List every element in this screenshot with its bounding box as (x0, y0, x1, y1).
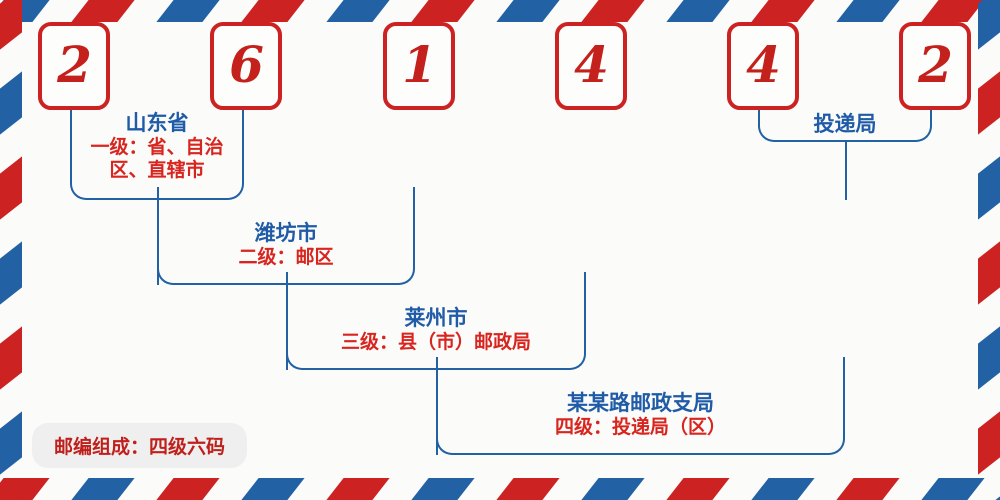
airmail-stripe (978, 152, 1000, 225)
airmail-stripe (832, 478, 905, 500)
airmail-stripe (747, 0, 820, 22)
airmail-stripe (0, 492, 22, 500)
airmail-border-right (978, 0, 1000, 500)
airmail-stripe (67, 478, 140, 500)
postcode-digit-1: 2 (42, 40, 106, 90)
postcode-digit-6: 2 (903, 40, 967, 90)
level-2-title: 潍坊市 (160, 220, 412, 246)
delivery-office-stem (845, 142, 847, 200)
level-4-label: 某某路邮政支局 四级：投递局（区） (438, 390, 843, 439)
postcode-digit-4: 4 (559, 40, 623, 90)
airmail-stripe (0, 237, 22, 310)
airmail-border-top (0, 0, 1000, 22)
postcode-digit-box-5[interactable]: 4 (727, 22, 799, 110)
airmail-stripe (832, 0, 905, 22)
airmail-stripe (978, 0, 1000, 54)
level-1-label: 山东省 一级：省、自治区、直辖市 (70, 110, 244, 182)
airmail-stripe (152, 0, 225, 22)
envelope-diagram: 2 6 1 4 4 2 投递局 山东省 一级：省、自治区、直辖市 潍坊市 二级：… (0, 0, 1000, 500)
airmail-stripe (0, 0, 22, 54)
airmail-stripe (978, 322, 1000, 395)
airmail-stripe (492, 478, 565, 500)
airmail-stripe (577, 0, 650, 22)
level-3-subtitle: 三级：县（市）邮政局 (288, 331, 584, 354)
airmail-stripe (322, 0, 395, 22)
level-4-title: 某某路邮政支局 (438, 390, 843, 416)
airmail-border-bottom (0, 478, 1000, 500)
level-4-subtitle: 四级：投递局（区） (438, 416, 843, 439)
postcode-digit-box-1[interactable]: 2 (38, 22, 110, 110)
airmail-stripe (237, 478, 310, 500)
postcode-digit-box-6[interactable]: 2 (899, 22, 971, 110)
level-2-subtitle: 二级：邮区 (160, 246, 412, 269)
level-3-title: 莱州市 (288, 305, 584, 331)
airmail-stripe (978, 67, 1000, 140)
airmail-stripe (237, 0, 310, 22)
airmail-stripe (322, 478, 395, 500)
airmail-stripe (662, 0, 735, 22)
airmail-stripe (978, 492, 1000, 500)
postcode-digit-3: 1 (387, 40, 451, 90)
delivery-office-label: 投递局 (760, 108, 930, 138)
airmail-stripe (407, 478, 480, 500)
airmail-stripe (978, 237, 1000, 310)
airmail-stripe (0, 407, 22, 480)
airmail-stripe (0, 322, 22, 395)
postcode-digit-box-4[interactable]: 4 (555, 22, 627, 110)
postcode-digit-5: 4 (731, 40, 795, 90)
airmail-stripe (0, 67, 22, 140)
level-2-label: 潍坊市 二级：邮区 (160, 220, 412, 269)
postcode-digit-box-2[interactable]: 6 (210, 22, 282, 110)
level-3-label: 莱州市 三级：县（市）邮政局 (288, 305, 584, 354)
airmail-stripe (747, 478, 820, 500)
airmail-stripe (577, 478, 650, 500)
airmail-stripe (67, 0, 140, 22)
airmail-stripe (407, 0, 480, 22)
airmail-stripe (152, 478, 225, 500)
level-1-title: 山东省 (70, 110, 244, 136)
airmail-stripe (492, 0, 565, 22)
level-1-subtitle: 一级：省、自治区、直辖市 (73, 136, 241, 182)
postcode-digit-box-3[interactable]: 1 (383, 22, 455, 110)
airmail-stripe (0, 152, 22, 225)
airmail-stripe (662, 478, 735, 500)
airmail-stripe (978, 407, 1000, 480)
postcode-digit-2: 6 (214, 40, 278, 90)
postcode-composition-badge: 邮编组成：四级六码 (32, 423, 247, 468)
airmail-border-left (0, 0, 22, 500)
